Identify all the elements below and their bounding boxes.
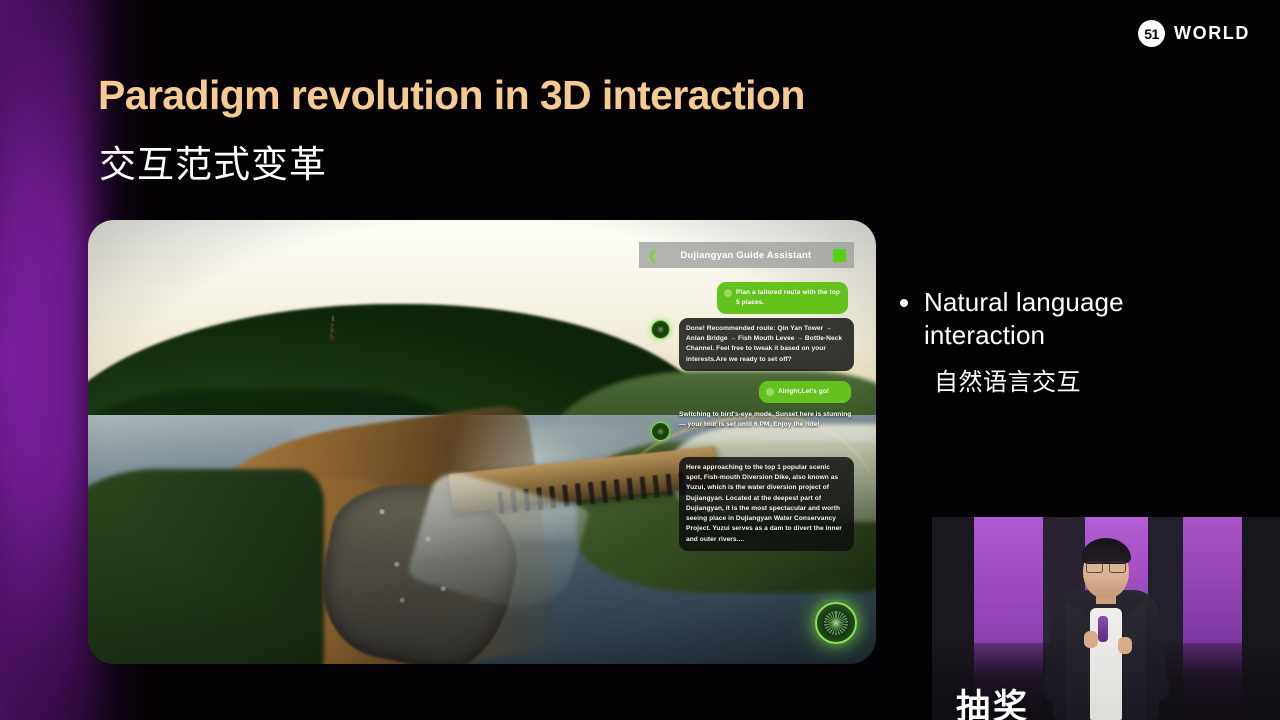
- speaker-jacket-right: [1122, 602, 1146, 720]
- assistant-avatar-icon: [651, 422, 670, 441]
- slide-title-en: Paradigm revolution in 3D interaction: [98, 72, 805, 119]
- bullet-text-en: Natural language interaction: [924, 286, 1230, 352]
- speaker-hand-right: [1118, 637, 1132, 654]
- chevron-left-icon[interactable]: ❮: [647, 248, 659, 262]
- bullet-dot-icon: [900, 299, 908, 307]
- video-caption: 抽奖: [956, 679, 1030, 720]
- slide-title-zh: 交互范式变革: [99, 134, 327, 188]
- chat-bubble-user: Plan a tailored route with the top 5 pla…: [717, 282, 848, 314]
- guide-assistant-chat: ❮ Dujiangyan Guide Assistant Plan a tail…: [639, 242, 854, 642]
- chat-bubble-user: Alright,Let's go!: [759, 381, 851, 403]
- brand-logo: 51 WORLD: [1138, 20, 1250, 47]
- ai-assistant-orb-icon[interactable]: [815, 602, 857, 644]
- purple-edge-glow-core: [0, 0, 90, 720]
- speaker-hand-left: [1084, 631, 1098, 648]
- assistant-avatar-icon: [651, 320, 670, 339]
- chat-bubble-bot-plain: Switching to bird's-eye mode. Sunset her…: [679, 410, 854, 430]
- chat-bubble-text: Plan a tailored route with the top 5 pla…: [736, 288, 841, 308]
- chat-title: Dujiangyan Guide Assistant: [659, 250, 833, 261]
- speaker-jacket-left: [1066, 602, 1090, 720]
- green-square-icon[interactable]: [833, 249, 846, 262]
- chat-bubble-bot: Here approaching to the top 1 popular sc…: [679, 457, 854, 551]
- microphone-icon: [1098, 616, 1108, 642]
- chat-bubble-text: Alright,Let's go!: [778, 387, 829, 397]
- logo-mark-icon: 51: [1138, 20, 1165, 47]
- chat-bubble-bot: Done! Recommended route: Qin Yan Tower →…: [679, 318, 854, 371]
- chat-bubble-text: Done! Recommended route: Qin Yan Tower →…: [686, 325, 842, 363]
- presentation-slide: 51 WORLD Paradigm revolution in 3D inter…: [0, 0, 1280, 720]
- bullet-text-zh: 自然语言交互: [934, 367, 1230, 398]
- mic-icon: [766, 388, 774, 396]
- mic-icon: [724, 289, 732, 297]
- chat-header-bar: ❮ Dujiangyan Guide Assistant: [639, 242, 854, 268]
- main-visual-panel: ❮ Dujiangyan Guide Assistant Plan a tail…: [88, 220, 876, 664]
- glasses-icon: [1086, 561, 1126, 570]
- chat-bubble-text: Here approaching to the top 1 popular sc…: [686, 464, 842, 543]
- chat-bubble-text: Switching to bird's-eye mode. Sunset her…: [679, 411, 851, 428]
- riverbank-vegetation: [88, 469, 324, 664]
- bullet-point: Natural language interaction 自然语言交互: [900, 286, 1230, 398]
- logo-wordmark: WORLD: [1174, 23, 1250, 44]
- speaker-video-overlay: 抽奖: [930, 515, 1280, 720]
